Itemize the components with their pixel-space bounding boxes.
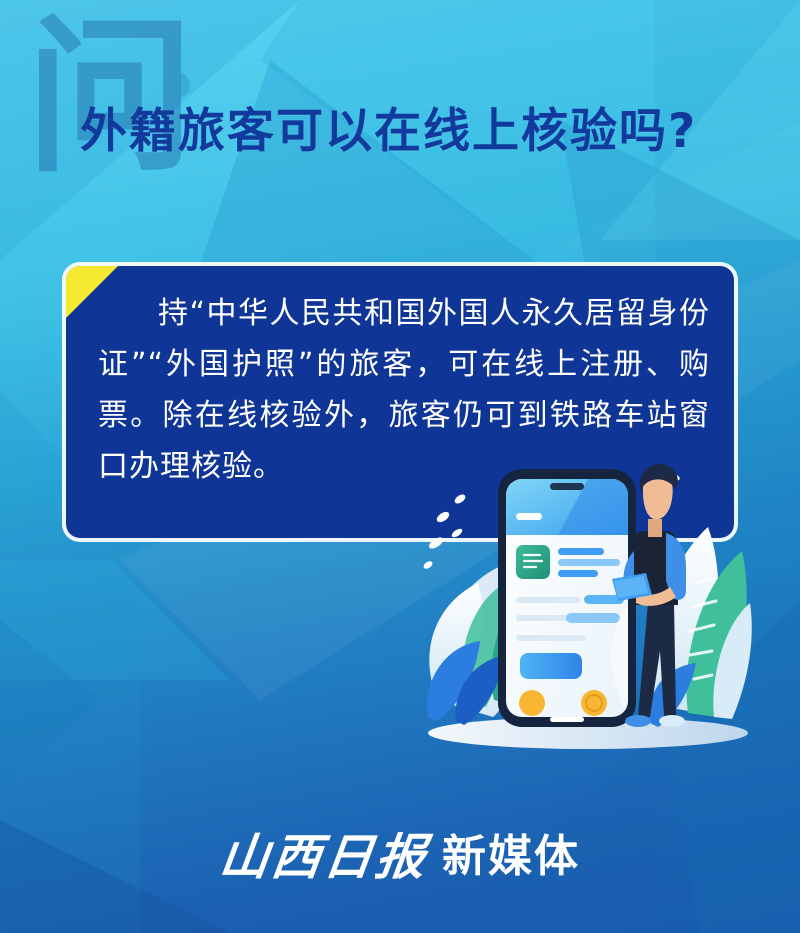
screen-line-1 [558,548,604,555]
illustration-person-with-phone [398,455,766,760]
page-title: 外籍旅客可以在线上核验吗? [80,102,740,162]
poly-top-triangle [200,60,540,265]
footer-logo: 山西日报新媒体 [0,826,800,888]
person-shoe-right [659,715,685,727]
phone-notch [550,483,584,490]
poly-left-wedge [0,620,100,790]
screen-line-2 [558,559,620,566]
poster-root: 问 外籍旅客可以在线上核验吗? 持“中华人民共和国外国人永久居留身份证”“外国护… [0,0,800,933]
logo-subtitle-text: 新媒体 [442,826,580,888]
person-neck [648,519,662,537]
screen-line-6 [516,615,572,621]
phone-home-indicator [550,717,584,722]
screen-line-4 [516,597,580,603]
screen-cta-button [520,653,582,679]
screen-header-pill [516,513,542,520]
watermark-dot-icon [164,72,190,98]
coin-icon-left [519,690,545,716]
person-shoe-left [625,715,651,727]
logo-brand-text: 山西日报 [216,826,432,888]
screen-line-7 [566,613,620,623]
illustration-svg [398,455,766,760]
screen-line-3 [558,570,598,577]
poly-left-arrow [0,560,230,680]
screen-line-8 [516,635,586,641]
coin-icon-right [581,690,607,716]
